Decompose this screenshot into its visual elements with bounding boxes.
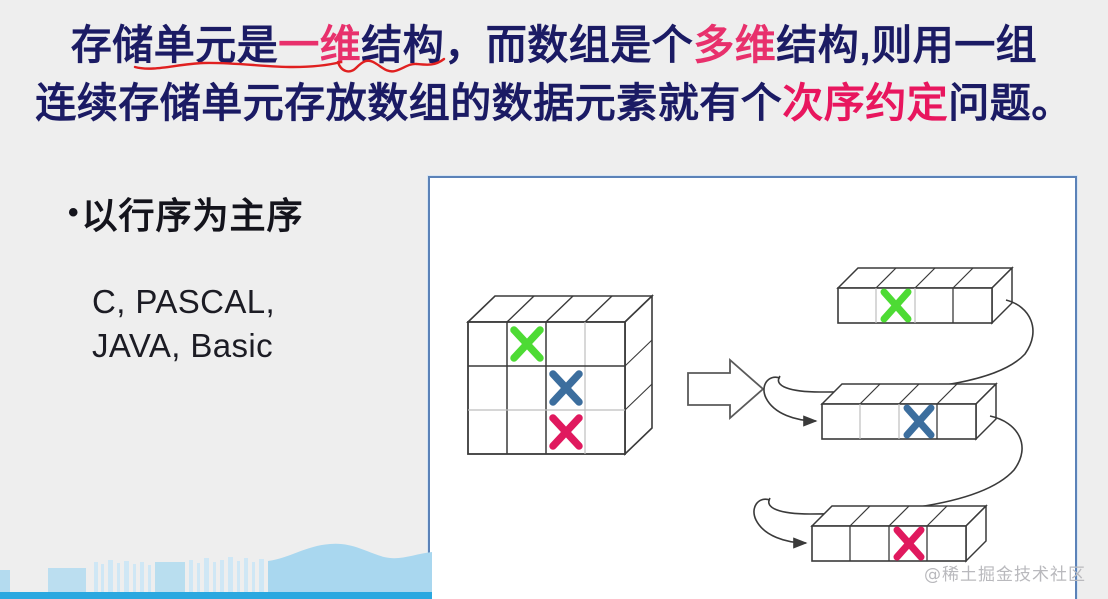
heading-line1-highlight-2: 多维 bbox=[693, 22, 776, 68]
slide-heading: 存储单元是一维结构，而数组是个多维结构,则用一组 连续存储单元存放数组的数据元素… bbox=[0, 16, 1108, 132]
transform-block-arrow-icon bbox=[688, 360, 763, 418]
cube-front-face bbox=[468, 322, 625, 454]
bullet-heading: • 以行序为主序 bbox=[68, 196, 398, 236]
heading-line2-highlight-1: 次序约定 bbox=[782, 80, 948, 126]
source-cube-3d bbox=[468, 296, 652, 454]
heading-line1-highlight-1: 一维 bbox=[278, 22, 361, 68]
row-strip-2 bbox=[822, 384, 996, 439]
row-strip-1 bbox=[838, 268, 1012, 323]
bottom-accent-bar bbox=[0, 592, 432, 599]
language-list: C, PASCAL, JAVA, Basic bbox=[92, 280, 398, 369]
heading-line2-part1: 连续存储单元存放数组的数据元素就有个 bbox=[35, 80, 782, 126]
heading-line-2: 连续存储单元存放数组的数据元素就有个次序约定问题。 bbox=[0, 74, 1108, 132]
heading-line2-part2: 问题。 bbox=[948, 80, 1073, 126]
bullet-heading-label: 以行序为主序 bbox=[82, 196, 304, 236]
heading-line1-part1: 存储单元是 bbox=[71, 22, 279, 68]
heading-line1-part2: 结构，而数组是个 bbox=[361, 22, 693, 68]
heading-line1-part3: 结构,则用一组 bbox=[776, 22, 1037, 68]
snake-connector-2-to-3-tail bbox=[754, 499, 806, 543]
slide-canvas: 存储单元是一维结构，而数组是个多维结构,则用一组 连续存储单元存放数组的数据元素… bbox=[0, 0, 1108, 599]
decorative-waveform bbox=[0, 524, 432, 599]
bullet-dot-icon: • bbox=[68, 196, 80, 231]
heading-line-1: 存储单元是一维结构，而数组是个多维结构,则用一组 bbox=[0, 16, 1108, 74]
language-list-line-2: JAVA, Basic bbox=[92, 324, 398, 369]
snake-connector-1-to-2-tail bbox=[764, 377, 816, 421]
watermark-text: @稀土掘金技术社区 bbox=[924, 560, 1086, 585]
diagram-panel bbox=[428, 176, 1077, 599]
left-text-column: • 以行序为主序 C, PASCAL, JAVA, Basic bbox=[68, 196, 398, 369]
cube-right-face bbox=[625, 296, 652, 454]
row-major-order-diagram bbox=[430, 178, 1075, 599]
row-strip-3 bbox=[812, 506, 986, 561]
language-list-line-1: C, PASCAL, bbox=[92, 280, 398, 325]
cube-top-face bbox=[468, 296, 652, 322]
